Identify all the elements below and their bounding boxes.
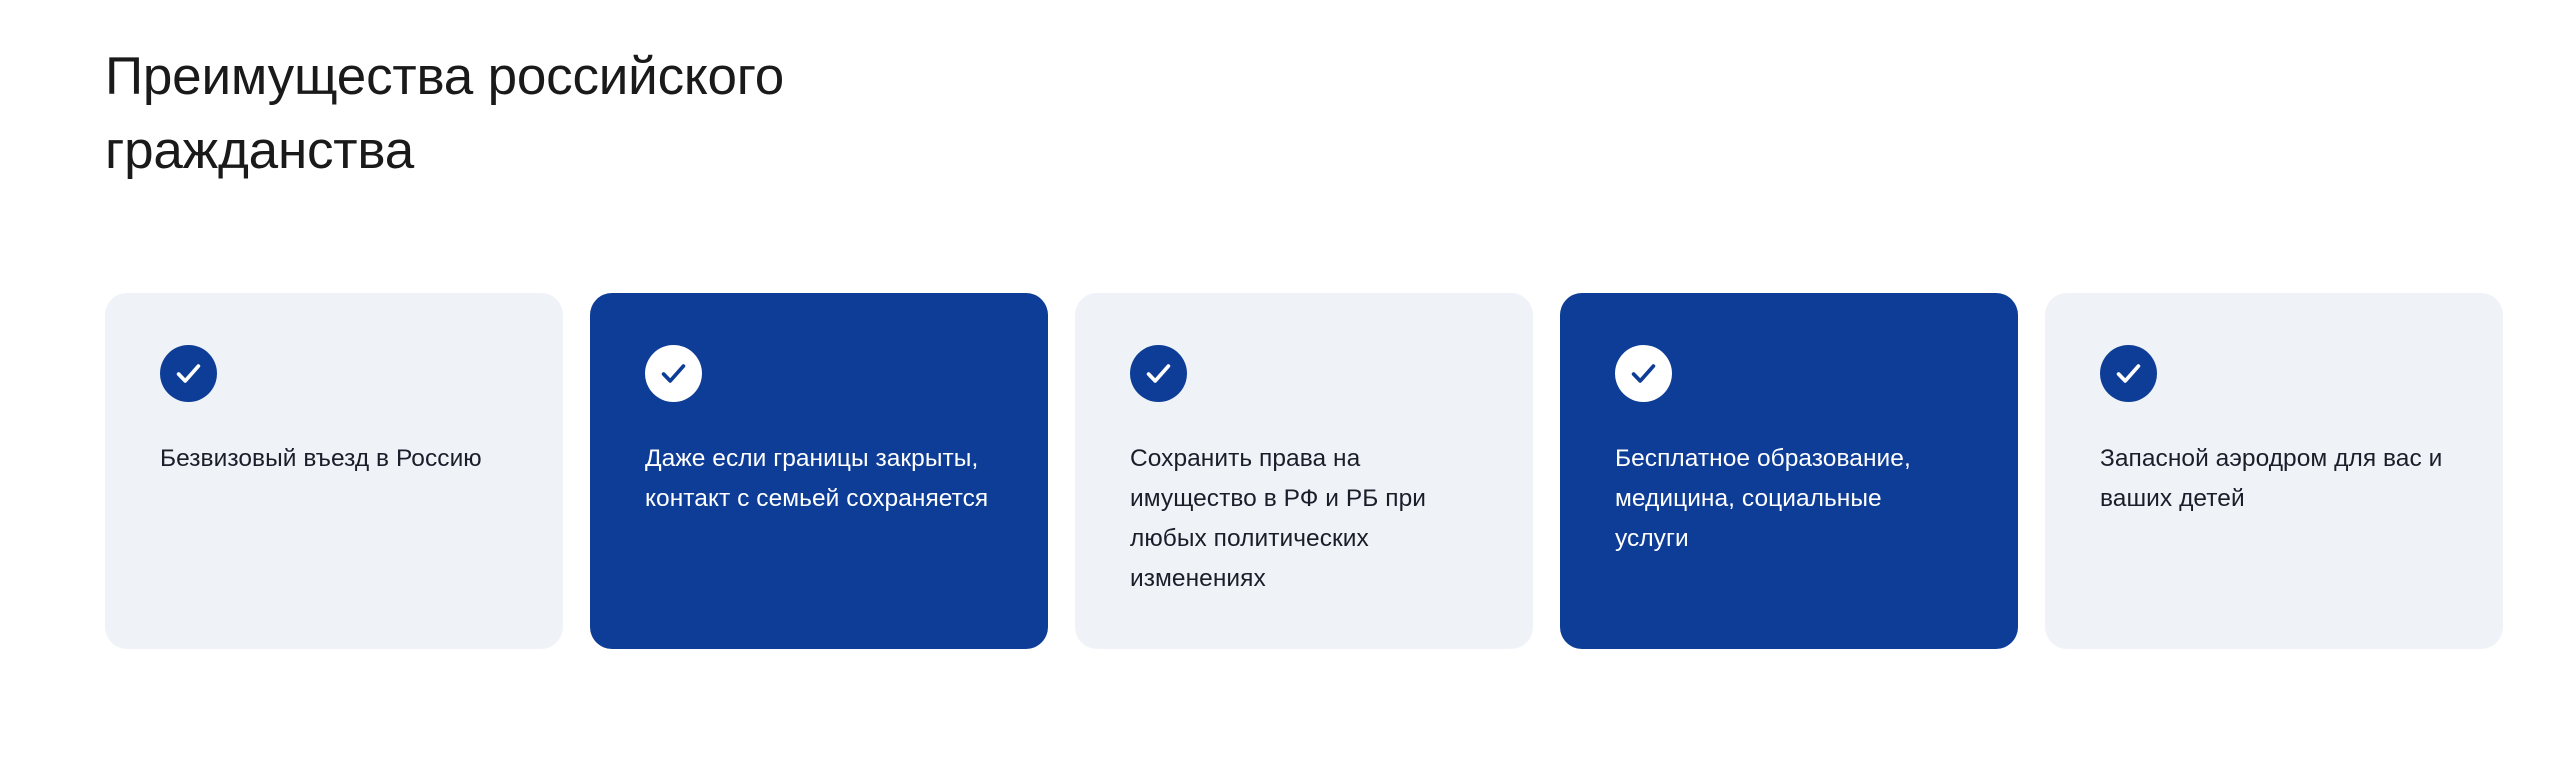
check-circle-icon (2100, 345, 2157, 402)
benefits-card-list: Безвизовый въезд в Россию Даже если гран… (105, 293, 2503, 649)
benefit-card: Безвизовый въезд в Россию (105, 293, 563, 649)
benefit-card-text: Безвизовый въезд в Россию (160, 439, 482, 479)
page-title: Преимущества российского гражданства (105, 40, 1105, 188)
check-circle-icon (160, 345, 217, 402)
benefit-card-text: Сохранить права на имущество в РФ и РБ п… (1130, 439, 1477, 599)
benefit-card-text: Запасной аэродром для вас и ваших детей (2100, 439, 2447, 519)
benefit-card-text: Даже если границы закрыты, контакт с сем… (645, 439, 992, 519)
check-circle-icon (1130, 345, 1187, 402)
benefits-section: Преимущества российского гражданства Без… (0, 0, 2553, 779)
check-circle-icon (645, 345, 702, 402)
benefit-card-text: Бесплатное образование, медицина, социал… (1615, 439, 1962, 559)
benefit-card: Даже если границы закрыты, контакт с сем… (590, 293, 1048, 649)
benefit-card: Бесплатное образование, медицина, социал… (1560, 293, 2018, 649)
check-circle-icon (1615, 345, 1672, 402)
benefit-card: Запасной аэродром для вас и ваших детей (2045, 293, 2503, 649)
benefit-card: Сохранить права на имущество в РФ и РБ п… (1075, 293, 1533, 649)
